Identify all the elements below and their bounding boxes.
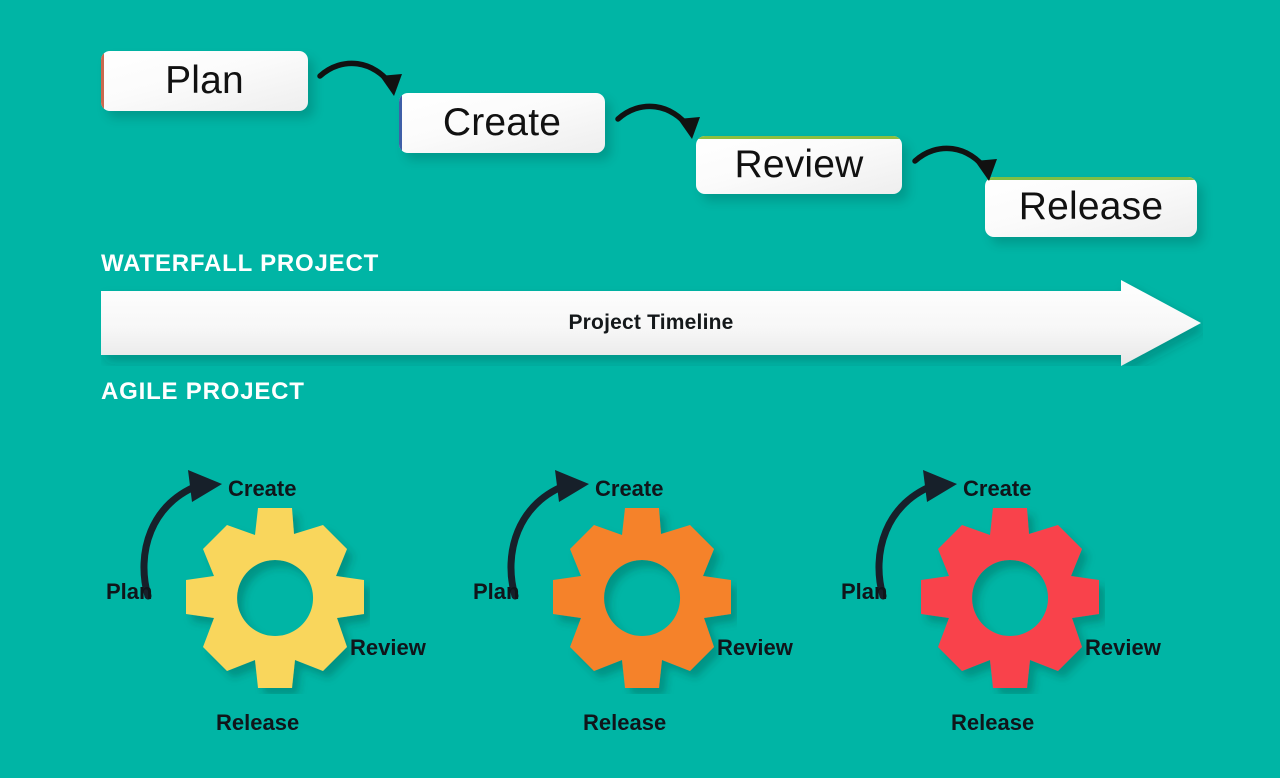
step-accent-edge (696, 136, 902, 139)
gear-label-release: Release (583, 710, 666, 736)
gear-label-create: Create (595, 476, 663, 502)
step-accent-edge (399, 93, 402, 153)
step-accent-edge (985, 177, 1197, 180)
gear-icon (547, 502, 737, 694)
agile-section-heading: AGILE PROJECT (101, 378, 305, 406)
waterfall-step-label: Review (734, 143, 863, 187)
gear-label-release: Release (951, 710, 1034, 736)
gear-label-review: Review (1085, 635, 1161, 661)
gear-label-review: Review (717, 635, 793, 661)
waterfall-step-plan[interactable]: Plan (101, 51, 308, 111)
agile-sprint-1[interactable]: Plan Create Review Release (88, 462, 468, 762)
waterfall-step-review[interactable]: Review (696, 136, 902, 194)
connector-arrow-plan-to-create (316, 52, 412, 114)
gear-label-create: Create (963, 476, 1031, 502)
agile-sprint-2[interactable]: Plan Create Review Release (455, 462, 835, 762)
gear-label-release: Release (216, 710, 299, 736)
gear-label-review: Review (350, 635, 426, 661)
waterfall-section-heading: WATERFALL PROJECT (101, 250, 379, 278)
gear-label-plan: Plan (473, 579, 519, 605)
gear-label-plan: Plan (841, 579, 887, 605)
waterfall-step-label: Plan (165, 59, 244, 103)
waterfall-step-release[interactable]: Release (985, 177, 1197, 237)
agile-sprint-3[interactable]: Plan Create Review Release (823, 462, 1203, 762)
waterfall-step-label: Release (1019, 185, 1164, 229)
gear-icon (915, 502, 1105, 694)
waterfall-step-create[interactable]: Create (399, 93, 605, 153)
step-accent-edge (101, 51, 104, 111)
gear-label-create: Create (228, 476, 296, 502)
waterfall-step-label: Create (443, 101, 561, 145)
timeline-arrow-shape (101, 280, 1203, 366)
project-timeline-bar: Project Timeline (101, 280, 1203, 366)
gear-label-plan: Plan (106, 579, 152, 605)
gear-icon (180, 502, 370, 694)
diagram-canvas: Plan Create Review Release WATERFALL PRO… (0, 0, 1280, 778)
